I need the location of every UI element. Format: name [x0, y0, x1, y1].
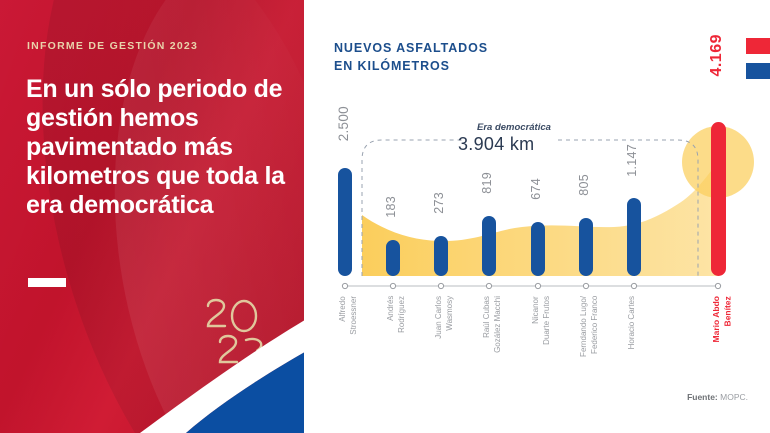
category-label-stroessner: Alfredo Stroessner [338, 296, 360, 335]
bar-rodriguez [386, 240, 400, 276]
value-label-stroessner: 2.500 [336, 106, 351, 141]
value-label-duarte-frutos: 674 [529, 178, 543, 200]
chart-legend [746, 38, 770, 88]
era-annotation-value: 3.904 km [458, 134, 534, 155]
bar-lugo-franco [579, 218, 593, 276]
bar-abdo-benitez [711, 122, 726, 276]
source-note: Fuente: MOPC. [687, 392, 748, 402]
left-red-panel: INFORME DE GESTIÓN 2023 En un sólo perio… [0, 0, 310, 433]
bar-wasmosy [434, 236, 448, 276]
chart-category-labels: Alfredo Stroessner Andrés Rodríguez Juan… [326, 296, 766, 386]
category-label-rodriguez: Andrés Rodríguez [386, 296, 408, 333]
category-label-cartes: Horacio Cartes [627, 296, 638, 349]
value-label-rodriguez: 183 [384, 196, 398, 218]
chart-panel: NUEVOS ASFALTADOS EN KILÓMETROS [312, 0, 770, 433]
bar-stroessner [338, 168, 352, 276]
value-label-cartes: 1.147 [625, 144, 639, 177]
chart-title-line1: NUEVOS ASFALTADOS [334, 39, 488, 57]
era-annotation-label: Era democrática [472, 122, 556, 133]
bar-duarte-frutos [531, 222, 545, 276]
flag-ribbon-decoration [0, 273, 310, 433]
source-value: MOPC. [718, 392, 748, 402]
category-label-lugo-franco: Ferndando Lugo/ Federico Franco [579, 296, 601, 357]
chart-plot-area: 2.500 183 273 819 674 805 1.147 4.169 Er… [326, 100, 766, 290]
bar-cubas-gonzalez [482, 216, 496, 276]
value-label-cubas-gonzalez: 819 [480, 172, 494, 194]
page-title: En un sólo periodo de gestión hemos pavi… [26, 75, 294, 220]
category-label-duarte-frutos: Nicanor Duarte Frutos [531, 296, 553, 345]
infographic-slide: INFORME DE GESTIÓN 2023 En un sólo perio… [0, 0, 770, 433]
panel-divider [304, 0, 312, 433]
bar-cartes [627, 198, 641, 276]
value-label-abdo-benitez: 4.169 [708, 34, 726, 77]
chart-title-line2: EN KILÓMETROS [334, 57, 488, 75]
legend-swatch-blue [746, 63, 770, 79]
category-label-wasmosy: Juan Carlos Wasmosy [434, 296, 456, 339]
legend-swatch-red [746, 38, 770, 54]
report-eyebrow-label: INFORME DE GESTIÓN 2023 [27, 40, 198, 52]
category-label-cubas-gonzalez: Raúl Cubas Gozález Macchi [482, 296, 504, 353]
source-label: Fuente: [687, 392, 718, 402]
value-label-lugo-franco: 805 [577, 174, 591, 196]
chart-title: NUEVOS ASFALTADOS EN KILÓMETROS [334, 39, 488, 75]
value-label-wasmosy: 273 [432, 192, 446, 214]
category-label-abdo-benitez: Mario Abdo Benítez [711, 296, 734, 342]
